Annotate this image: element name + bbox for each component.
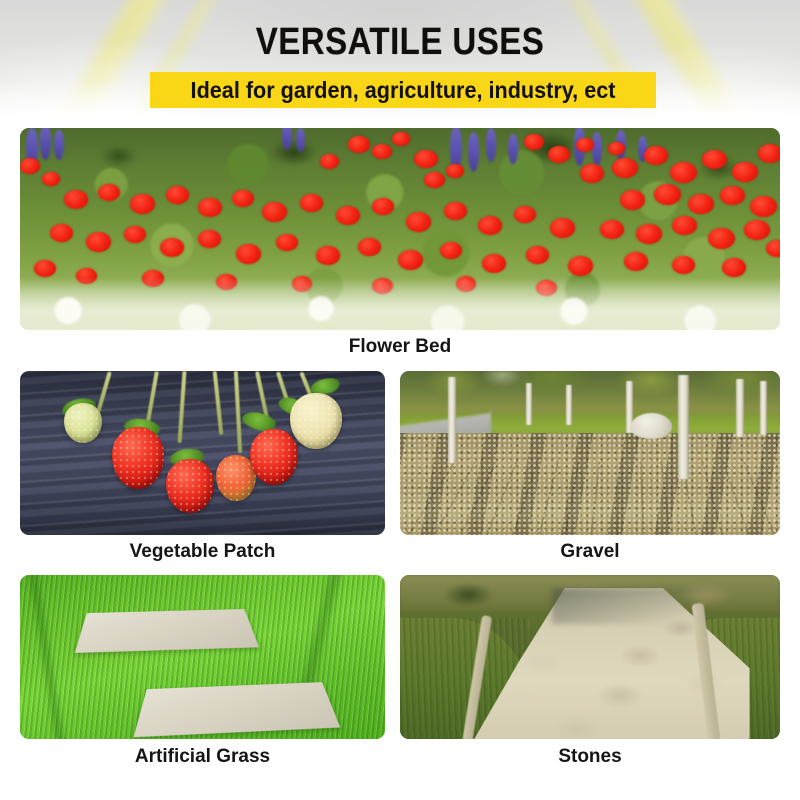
tile-stones [400,575,780,739]
background-stripe-right-inner [542,0,703,128]
gravel-tree-shadows [400,433,780,535]
tree-trunk [760,381,767,435]
tree-trunk [566,385,572,425]
caption-vegetable-patch: Vegetable Patch [20,541,385,563]
background-stripe-right [610,0,788,128]
tile-vegetable-patch [20,371,385,535]
caption-flower-bed: Flower Bed [0,336,800,358]
vegetable-patch-scene [20,371,385,535]
background-stripe-left [12,0,190,128]
tree-trunk [678,375,689,479]
page-title: VERSATILE USES [52,21,748,63]
caption-artificial-grass: Artificial Grass [20,746,385,768]
gravel-paving-joints [400,461,780,535]
stones-scene [400,575,780,739]
tagline-text: Ideal for garden, agriculture, industry,… [191,79,616,102]
flower-bed-scene [20,128,780,330]
stepping-slab [75,609,259,653]
tree-trunk [448,377,456,463]
artificial-grass-scene [20,575,385,739]
white-alyssum-border [20,277,780,330]
tree-trunk [736,379,744,437]
background-stripe-left-inner [82,0,243,128]
gravel-scene [400,371,780,535]
caption-stones: Stones [400,746,780,768]
header-background [0,0,800,128]
tile-flower-bed [20,128,780,330]
tagline-banner: Ideal for garden, agriculture, industry,… [150,72,656,108]
gravel-surface [400,433,780,535]
infographic-page: VERSATILE USES Ideal for garden, agricul… [0,0,800,800]
white-boulder [630,413,672,439]
caption-gravel: Gravel [400,541,780,563]
tile-artificial-grass [20,575,385,739]
tile-gravel [400,371,780,535]
tree-trunk [526,383,532,425]
